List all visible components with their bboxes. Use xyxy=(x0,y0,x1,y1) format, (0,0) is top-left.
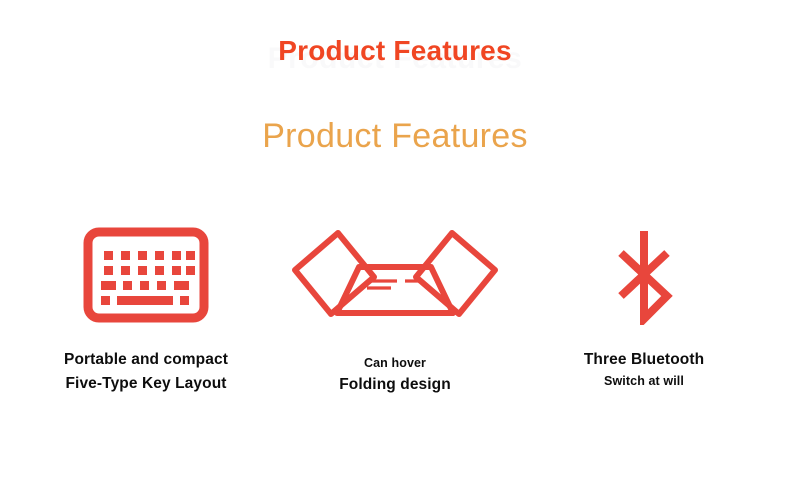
feature-caption-folding: Can hover Folding design xyxy=(339,354,451,397)
feature-caption-line2: Five-Type Key Layout xyxy=(64,372,228,396)
feature-item-folding: Can hover Folding design xyxy=(271,222,519,397)
bluetooth-icon-wrap xyxy=(605,222,683,328)
features-row: Portable and compact Five-Type Key Layou… xyxy=(0,222,790,397)
product-features-banner: Product Features Product Features Produc… xyxy=(0,0,790,499)
folding-keyboard-icon xyxy=(281,225,509,325)
feature-caption-keyboard: Portable and compact Five-Type Key Layou… xyxy=(64,348,228,396)
bluetooth-icon xyxy=(605,225,683,325)
keyboard-icon-wrap xyxy=(83,222,209,328)
feature-caption-bluetooth: Three Bluetooth Switch at will xyxy=(584,348,704,391)
folding-keyboard-icon-wrap xyxy=(281,222,509,328)
feature-caption-line2: Folding design xyxy=(339,373,451,397)
feature-caption-line2: Switch at will xyxy=(584,372,704,391)
feature-caption-line1: Three Bluetooth xyxy=(584,348,704,372)
feature-caption-line1: Can hover xyxy=(339,354,451,373)
feature-item-keyboard: Portable and compact Five-Type Key Layou… xyxy=(22,222,270,396)
feature-item-bluetooth: Three Bluetooth Switch at will xyxy=(520,222,768,391)
page-title: Product Features xyxy=(0,36,790,67)
keyboard-icon xyxy=(83,227,209,323)
feature-caption-line1: Portable and compact xyxy=(64,348,228,372)
title-block: Product Features Product Features xyxy=(0,36,790,67)
page-subtitle: Product Features xyxy=(0,118,790,155)
